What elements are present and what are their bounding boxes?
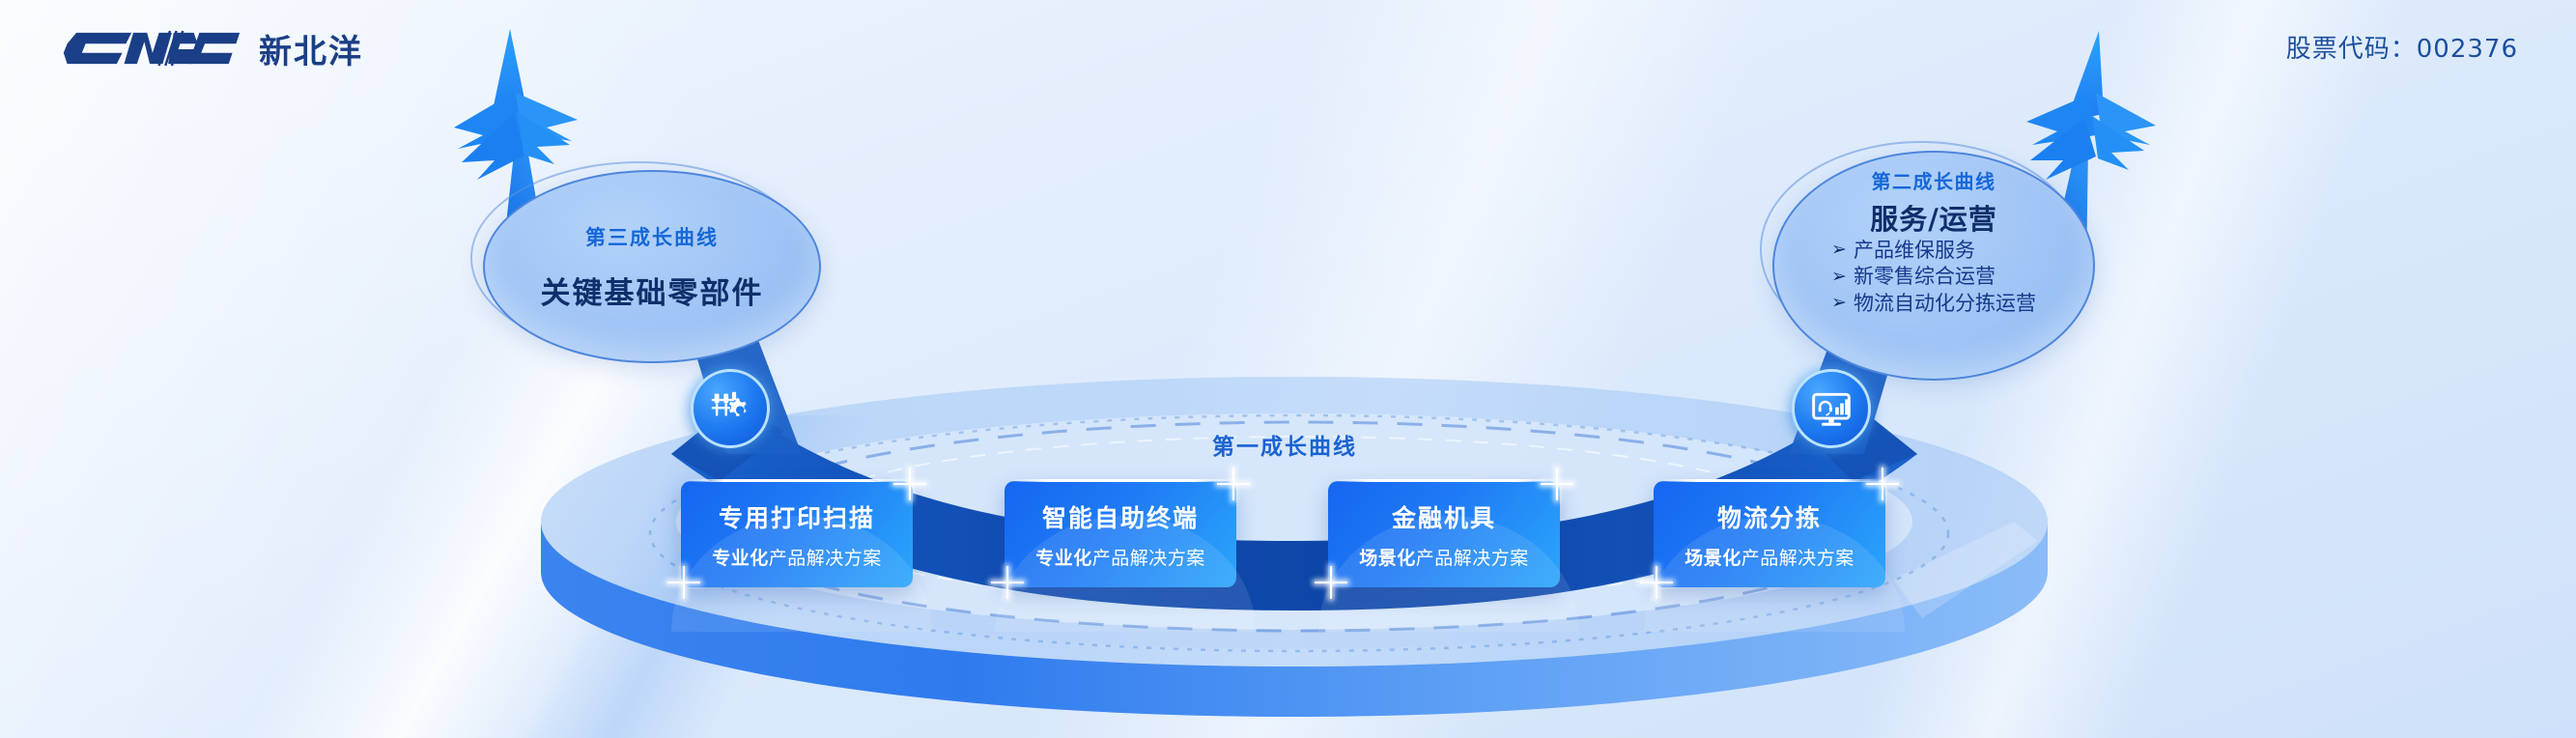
product-card[interactable]: 金融机具 场景化产品解决方案 <box>1328 481 1560 587</box>
snbc-wordmark-icon <box>60 21 243 75</box>
card-title: 智能自助终端 <box>1042 499 1199 534</box>
third-curve-label: 第三成长曲线 <box>585 222 719 251</box>
growth-curve-graphic <box>0 0 2576 738</box>
card-subtitle-strong: 场景化 <box>1359 548 1416 569</box>
second-curve-label: 第二成长曲线 <box>1872 166 1996 194</box>
first-curve-label: 第一成长曲线 <box>1212 428 1357 461</box>
card-subtitle-rest: 产品解决方案 <box>1741 548 1854 569</box>
monitor-headset-chart-icon[interactable] <box>1792 369 1871 448</box>
second-curve-bullet-list: ➢ 产品维保服务 ➢ 新零售综合运营 ➢ 物流自动化分拣运营 <box>1831 238 2036 316</box>
card-title: 物流分拣 <box>1717 499 1822 534</box>
second-curve-bubble[interactable]: 第二成长曲线 服务/运营 ➢ 产品维保服务 ➢ 新零售综合运营 ➢ 物流自动化分… <box>1772 151 2095 381</box>
sliders-gear-icon[interactable] <box>691 369 770 448</box>
chevron-right-icon: ➢ <box>1831 266 1847 289</box>
card-subtitle: 专业化产品解决方案 <box>1035 544 1205 570</box>
chevron-right-icon: ➢ <box>1831 239 1847 262</box>
stock-code-label: 股票代码：002376 <box>2286 29 2518 65</box>
brand-logo: 新北洋 <box>60 21 363 75</box>
bullet-text: 产品维保服务 <box>1854 238 1975 263</box>
list-item: ➢ 产品维保服务 <box>1831 238 2036 263</box>
card-subtitle-strong: 专业化 <box>1035 548 1092 569</box>
card-subtitle: 场景化产品解决方案 <box>1684 544 1854 570</box>
product-card[interactable]: 智能自助终端 专业化产品解决方案 <box>1005 481 1236 587</box>
third-curve-title: 关键基础零部件 <box>541 269 764 312</box>
card-subtitle-rest: 产品解决方案 <box>1092 548 1205 569</box>
card-subtitle-rest: 产品解决方案 <box>769 548 882 569</box>
product-card[interactable]: 专用打印扫描 专业化产品解决方案 <box>681 481 913 587</box>
bullet-text: 新零售综合运营 <box>1854 264 1996 289</box>
bullet-text: 物流自动化分拣运营 <box>1854 291 2036 316</box>
card-title: 金融机具 <box>1392 499 1496 534</box>
card-subtitle-rest: 产品解决方案 <box>1416 548 1529 569</box>
list-item: ➢ 物流自动化分拣运营 <box>1831 291 2036 316</box>
infographic-canvas: 新北洋 股票代码：002376 第三成长曲线 关键基础零部件 第二成长曲线 服务… <box>0 0 2576 738</box>
card-subtitle: 场景化产品解决方案 <box>1359 544 1529 570</box>
logo-chinese-name: 新北洋 <box>259 25 363 72</box>
second-curve-title: 服务/运营 <box>1870 197 1997 238</box>
list-item: ➢ 新零售综合运营 <box>1831 264 2036 289</box>
chevron-right-icon: ➢ <box>1831 292 1847 315</box>
card-subtitle-strong: 场景化 <box>1684 548 1741 569</box>
card-title: 专用打印扫描 <box>719 499 875 534</box>
product-card[interactable]: 物流分拣 场景化产品解决方案 <box>1654 481 1885 587</box>
card-subtitle: 专业化产品解决方案 <box>712 544 882 570</box>
third-curve-bubble[interactable]: 第三成长曲线 关键基础零部件 <box>483 170 821 363</box>
card-subtitle-strong: 专业化 <box>712 548 769 569</box>
